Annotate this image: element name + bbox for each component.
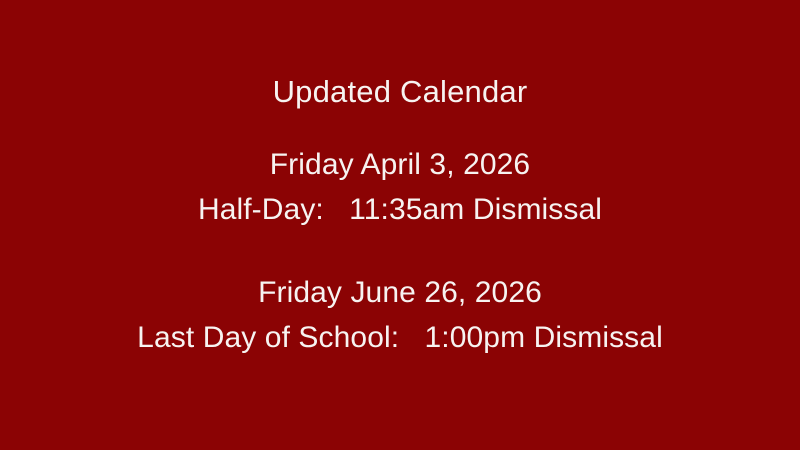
notice-date-line: Friday June 26, 2026 — [137, 270, 663, 315]
notice-detail-line: Half-Day: 11:35am Dismissal — [198, 187, 602, 232]
notice-block-half-day: Friday April 3, 2026 Half-Day: 11:35am D… — [198, 142, 602, 232]
announcement-slide: Updated Calendar Friday April 3, 2026 Ha… — [0, 0, 800, 450]
page-title: Updated Calendar — [273, 72, 528, 112]
notice-block-last-day: Friday June 26, 2026 Last Day of School:… — [137, 270, 663, 360]
notice-detail-line: Last Day of School: 1:00pm Dismissal — [137, 315, 663, 360]
notice-date-line: Friday April 3, 2026 — [198, 142, 602, 187]
